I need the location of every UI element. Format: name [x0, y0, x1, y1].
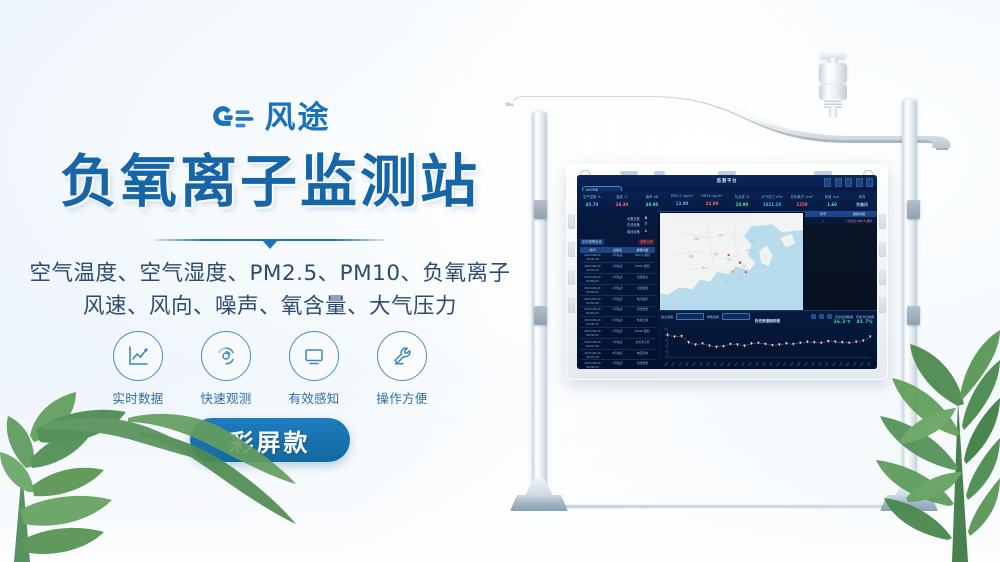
sensor-body-upper	[819, 63, 847, 83]
ultrasonic-weather-sensor	[816, 50, 850, 112]
hero-text-block: 风途 负氧离子监测站 空气温度、空气湿度、PM2.5、PM10、负氧离子 风速、…	[0, 0, 540, 562]
brand-name: 风途	[265, 103, 331, 134]
table-row[interactable]: 2023-08-20 09:38:155号站点恢复正常	[580, 317, 655, 328]
device-stat-row: 设备总数8	[580, 216, 647, 221]
table-cell: 负氧离子低	[630, 339, 655, 349]
metric-value: 48.90	[637, 202, 667, 207]
feature-label: 实时数据	[110, 388, 166, 407]
feature-icon-circle	[201, 331, 251, 381]
table-cell: 1号站点	[605, 339, 630, 349]
title-divider	[0, 235, 540, 249]
svg-text:广西: 广西	[723, 279, 728, 283]
monitor-screen-icon	[301, 343, 327, 369]
svg-text:05:00: 05:00	[699, 362, 703, 366]
table-cell: 2号站点	[605, 263, 630, 273]
metric-value: 13.00	[667, 201, 697, 206]
alert-icon[interactable]	[866, 178, 873, 187]
curved-canopy	[502, 92, 952, 154]
metric-value: 20.90	[727, 202, 757, 207]
metric-label: 温度 ℃	[607, 194, 637, 199]
table-cell: 1号站点	[605, 253, 630, 263]
table-cell: 5号站点	[605, 317, 630, 327]
chart-select-left-label: 站点选择	[661, 315, 673, 319]
svg-text:21:00: 21:00	[811, 362, 815, 366]
hero-subtitle: 空气温度、空气湿度、PM2.5、PM10、负氧离子 风速、风向、噪声、氧含量、大…	[0, 258, 540, 323]
table-row[interactable]: 2023-08-20 09:06:037号站点离线告警	[580, 360, 655, 369]
wall-bracket-left-bottom	[534, 306, 547, 325]
metric-value: 45.70	[577, 202, 607, 207]
table-row[interactable]: 2023-08-20 09:55:211号站点湿度偏低	[580, 285, 655, 296]
svg-text:40: 40	[665, 346, 667, 348]
svg-text:山东: 山东	[746, 248, 751, 252]
svg-text:01:00: 01:00	[671, 362, 675, 366]
table-cell: 6号站点	[605, 350, 630, 360]
metric-card-row: 空气湿度 %45.70温度 ℃26.30噪声 dB48.90PM2.5 ug/m…	[577, 191, 877, 212]
table-cell: 噪声超标	[630, 296, 655, 306]
svg-text:00:00: 00:00	[664, 362, 668, 366]
divider-triangle-icon	[262, 240, 278, 249]
table-cell: 2号站点	[605, 307, 630, 317]
alarm-table-body: 2023-08-20 10:02:301号站点PM2.5 超标2023-08-2…	[580, 253, 655, 369]
table-cell: 2023-08-20 10:01:12	[580, 263, 605, 273]
bezel-vent	[568, 214, 575, 229]
chart-plot-area: 00:0001:0002:0003:0004:0005:0006:0007:00…	[662, 327, 873, 366]
chart-view-button-2[interactable]	[819, 314, 824, 319]
svg-text:28:00: 28:00	[860, 362, 864, 366]
dashboard-header: 监测平台 站点选择	[577, 175, 877, 192]
feature-item-realtime-data[interactable]: 实时数据	[110, 331, 166, 407]
wall-bracket-right-top	[907, 200, 920, 219]
table-cell: 3号站点	[605, 274, 630, 284]
ground-line	[504, 505, 954, 508]
table-row[interactable]: 2023-08-20 09:22:401号站点负氧离子低	[580, 339, 655, 350]
table-cell: 7号站点	[605, 360, 630, 369]
device-stat-value: 1	[645, 229, 647, 234]
metric-label: 负氧离子 /cm³	[787, 194, 817, 199]
support-post-right	[902, 100, 917, 502]
svg-text:03:00: 03:00	[685, 362, 689, 366]
table-cell: 电压异常	[630, 350, 655, 360]
chart-legend-2: 历史对比数据	[856, 315, 874, 319]
table-row[interactable]: 2023-08-20 10:01:122号站点PM10 超标	[580, 263, 655, 274]
device-stat-row: 在线设备7	[580, 222, 647, 227]
table-cell: 恢复正常	[630, 317, 655, 327]
svg-text:河南: 河南	[727, 258, 732, 262]
table-row[interactable]: 2023-08-20 09:58:443号站点温度偏高	[580, 274, 655, 285]
table-cell: 2023-08-20 09:50:08	[580, 296, 605, 306]
svg-text:23:00: 23:00	[825, 362, 829, 366]
device-stat-row: 离线设备1	[580, 229, 647, 234]
svg-text:17:00: 17:00	[783, 362, 787, 366]
device-stat-value: 8	[645, 216, 647, 221]
table-cell: 2023-08-20 09:30:52	[580, 328, 605, 338]
svg-text:20:00: 20:00	[804, 362, 808, 366]
device-stats-and-alarm-table: 设备总数8在线设备7离线设备1 实时报警信息 报警记录 时间设备名报警内容 20…	[577, 211, 658, 369]
table-cell: PM10 超标	[630, 328, 655, 338]
metric-card[interactable]: 噪声 dB48.90	[637, 191, 667, 211]
subtitle-line-1: 空气温度、空气湿度、PM2.5、PM10、负氧离子	[0, 258, 540, 291]
chart-select-right-label: 参数选择	[707, 315, 719, 319]
table-cell: 离线告警	[630, 360, 655, 369]
metric-card[interactable]: 风速 m/s1.60	[817, 191, 847, 211]
chart-legend-1: 实时监测数据	[835, 315, 853, 319]
wall-bracket-left-top	[534, 200, 547, 219]
svg-text:西藏: 西藏	[689, 254, 694, 258]
list-icon[interactable]	[845, 178, 852, 187]
table-cell: 离线告警	[630, 307, 655, 317]
metric-card[interactable]: 大气压力 hPa1011.20	[757, 191, 787, 211]
trend-chart-panel: 站点选择 参数选择 实时监测数据 历史对比数据 历史数据趋势图	[658, 310, 877, 369]
grid-icon[interactable]	[824, 178, 831, 187]
chart-select-right[interactable]	[722, 313, 750, 320]
table-row[interactable]: 2023-08-20 09:15:196号站点电压异常	[580, 350, 655, 361]
svg-text:江苏: 江苏	[742, 263, 747, 267]
bezel-vent	[568, 242, 575, 257]
svg-text:12:00: 12:00	[748, 362, 752, 366]
chart-title: 历史数据趋势图	[755, 319, 780, 324]
metric-label: 风向	[847, 194, 877, 199]
device-stat-label: 在线设备	[627, 222, 640, 227]
trend-line-chart: 00:0001:0002:0003:0004:0005:0006:0007:00…	[662, 327, 873, 366]
metric-label: 风速 m/s	[817, 194, 847, 199]
metric-card[interactable]: PM10 ug/m³22.00	[697, 191, 727, 211]
map-icon[interactable]	[856, 178, 863, 187]
page-title: 负氧离子监测站	[0, 152, 540, 214]
metric-label: 空气湿度 %	[577, 194, 607, 199]
table-row[interactable]: 2023-08-20 09:30:523号站点PM10 超标	[580, 328, 655, 339]
svg-text:11:00: 11:00	[741, 362, 745, 366]
table-cell: 2023-08-20 09:44:37	[580, 307, 605, 317]
device-stats-list: 设备总数8在线设备7离线设备1	[580, 216, 655, 234]
dashboard-toolbar	[824, 178, 873, 187]
chart-select-left[interactable]	[676, 313, 704, 320]
metric-card[interactable]: 温度 ℃26.30	[607, 191, 637, 211]
chart-readout: 26.3℃ 45.7%	[834, 319, 873, 324]
device-stat-label: 设备总数	[627, 216, 640, 221]
base-plate-right	[880, 495, 938, 511]
svg-text:15:00: 15:00	[769, 362, 773, 366]
table-cell: 2023-08-20 09:58:44	[580, 274, 605, 284]
feature-label: 操作方便	[374, 388, 430, 407]
metric-label: 氧含量 %	[727, 194, 757, 199]
metric-value: 1011.20	[757, 202, 787, 207]
chart-view-button-3[interactable]	[827, 314, 832, 319]
metric-card[interactable]: 风向东南风	[847, 191, 877, 211]
svg-text:14:00: 14:00	[762, 362, 766, 366]
metric-card[interactable]: 负氧离子 /cm³1250	[787, 191, 817, 211]
metric-label: 大气压力 hPa	[757, 194, 787, 199]
metric-value: 东南风	[847, 202, 877, 208]
svg-text:18:00: 18:00	[790, 362, 794, 366]
radar-sensor-icon	[213, 343, 239, 369]
wrench-icon	[389, 343, 415, 369]
svg-text:甘肃: 甘肃	[713, 252, 718, 256]
feature-label: 有效感知	[286, 388, 342, 407]
chart-icon[interactable]	[835, 178, 842, 187]
svg-text:0: 0	[666, 357, 667, 359]
bezel-vent	[879, 270, 886, 285]
table-row[interactable]: 2023-08-20 09:44:372号站点离线告警	[580, 307, 655, 318]
cta-button[interactable]: 彩屏款	[190, 418, 350, 462]
metric-card[interactable]: PM2.5 ug/m³13.00	[667, 191, 697, 211]
feature-list: 实时数据 快速观测	[0, 331, 540, 407]
wall-bracket-right-bottom	[907, 306, 920, 325]
table-cell: 温度偏高	[630, 274, 655, 284]
table-cell: 2023-08-20 09:22:40	[580, 339, 605, 349]
svg-text:辽宁: 辽宁	[752, 239, 757, 243]
table-cell: 1号站点	[605, 285, 630, 295]
svg-text:20: 20	[665, 351, 667, 353]
svg-text:80: 80	[665, 334, 667, 336]
display-screen: 监测平台 站点选择 空气湿度 %45.70温度 ℃26.30噪声 dB48	[577, 175, 877, 369]
svg-text:27:00: 27:00	[853, 362, 857, 366]
svg-text:广东: 广东	[738, 277, 743, 281]
feature-item-effective-sensing[interactable]: 有效感知	[286, 331, 342, 407]
svg-text:四川: 四川	[702, 266, 707, 269]
svg-text:26:00: 26:00	[846, 362, 850, 366]
svg-text:10:00: 10:00	[734, 362, 738, 366]
feature-icon-circle	[289, 331, 339, 381]
base-plate-left	[510, 495, 568, 511]
wind-cloud-logo-icon	[210, 104, 256, 134]
alarm-panel-title: 实时报警信息	[580, 239, 604, 246]
metric-label: PM2.5 ug/m³	[667, 194, 697, 198]
svg-text:湖南: 湖南	[731, 269, 736, 273]
metric-label: PM10 ug/m³	[697, 194, 727, 198]
svg-text:22:00: 22:00	[818, 362, 822, 366]
metric-card[interactable]: 空气湿度 %45.70	[577, 191, 607, 211]
monitoring-dashboard: 监测平台 站点选择 空气湿度 %45.70温度 ℃26.30噪声 dB48	[577, 175, 877, 369]
table-cell: 3号站点	[605, 328, 630, 338]
svg-text:09:00: 09:00	[727, 362, 731, 366]
feature-icon-circle	[113, 331, 163, 381]
table-cell: 2023-08-20 09:06:03	[580, 360, 605, 369]
metric-value: 26.30	[607, 202, 637, 207]
table-cell: 2023-08-20 09:55:21	[580, 285, 605, 295]
svg-text:02:00: 02:00	[678, 362, 682, 366]
bezel-vent	[568, 298, 575, 313]
device-stat-label: 离线设备	[627, 229, 640, 234]
product-illustration: 监测平台 站点选择 空气湿度 %45.70温度 ℃26.30噪声 dB48	[490, 0, 1000, 562]
svg-text:08:00: 08:00	[720, 362, 724, 366]
table-cell: PM10 超标	[630, 263, 655, 273]
metric-value: 1.60	[817, 202, 847, 207]
svg-text:新疆: 新疆	[694, 237, 699, 241]
table-cell: 2023-08-20 09:38:15	[580, 317, 605, 327]
bezel-vent	[879, 214, 886, 229]
bezel-vent	[879, 242, 886, 257]
table-cell: PM2.5 超标	[630, 253, 655, 263]
line-chart-icon	[125, 343, 151, 369]
table-cell: 湿度偏低	[630, 285, 655, 295]
metric-value: 22.00	[697, 201, 727, 206]
sensor-body-lower	[819, 84, 847, 100]
feature-item-easy-operation[interactable]: 操作方便	[374, 331, 430, 407]
svg-text:16:00: 16:00	[776, 362, 780, 366]
alarm-panel-badge[interactable]: 报警记录	[638, 239, 655, 246]
chart-readout-right: 45.7%	[857, 319, 873, 324]
subtitle-line-2: 风速、风向、噪声、氧含量、大气压力	[0, 291, 540, 324]
alarm-table-header-bar: 实时报警信息 报警记录	[580, 239, 655, 246]
metric-label: 噪声 dB	[637, 194, 667, 199]
svg-text:24:00: 24:00	[832, 362, 836, 366]
promo-banner: 风途 负氧离子监测站 空气温度、空气湿度、PM2.5、PM10、负氧离子 风速、…	[0, 0, 1000, 562]
feature-icon-circle	[377, 331, 427, 381]
metric-card[interactable]: 氧含量 %20.90	[727, 191, 757, 211]
svg-text:60: 60	[665, 340, 667, 342]
feature-label: 快速观测	[198, 388, 254, 407]
feature-item-quick-observation[interactable]: 快速观测	[198, 331, 254, 407]
table-row[interactable]: 2023-08-20 09:50:084号站点噪声超标	[580, 296, 655, 307]
svg-text:19:00: 19:00	[797, 362, 801, 366]
table-row[interactable]: 2023-08-20 10:02:301号站点PM2.5 超标	[580, 253, 655, 264]
bezel-vent	[568, 270, 575, 285]
svg-text:04:00: 04:00	[692, 362, 696, 366]
svg-text:07:00: 07:00	[713, 362, 717, 366]
chart-view-button-1[interactable]	[811, 314, 816, 319]
svg-text:100: 100	[664, 329, 667, 331]
bezel-vent	[879, 298, 886, 313]
chart-readout-left: 26.3℃	[834, 319, 851, 324]
svg-text:29:00: 29:00	[867, 362, 871, 366]
svg-text:25:00: 25:00	[839, 362, 843, 366]
table-cell: 2023-08-20 10:02:30	[580, 253, 605, 263]
svg-text:蒙古: 蒙古	[719, 233, 724, 237]
table-cell: 2023-08-20 09:15:19	[580, 350, 605, 360]
device-stat-value: 7	[645, 222, 647, 227]
outdoor-lcd-display: 监测平台 站点选择 空气湿度 %45.70温度 ℃26.30噪声 dB48	[566, 164, 888, 380]
svg-text:06:00: 06:00	[706, 362, 710, 366]
sensor-mount-stem	[829, 107, 837, 117]
map-landmass: 新疆蒙古 西藏甘肃 河南四川 湖南江苏 广西广东 山东辽宁	[660, 213, 803, 304]
table-cell: 4号站点	[605, 296, 630, 306]
svg-text:13:00: 13:00	[755, 362, 759, 366]
metric-value: 1250	[787, 202, 817, 207]
brand-logo: 风途	[0, 103, 540, 134]
